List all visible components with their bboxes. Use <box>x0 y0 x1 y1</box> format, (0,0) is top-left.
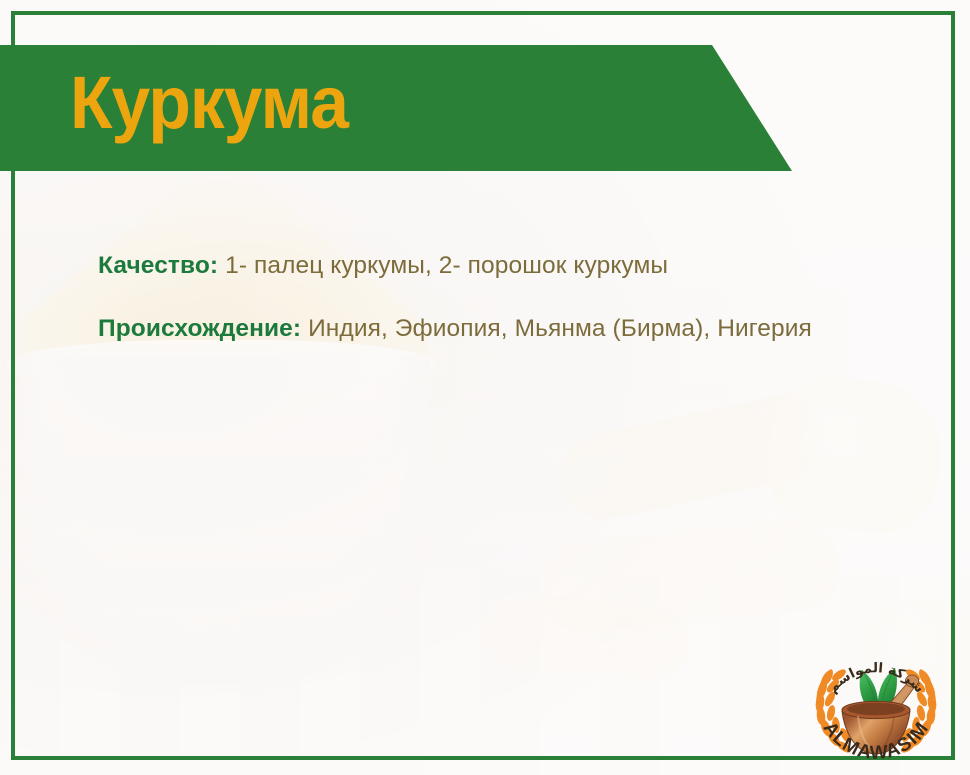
company-logo: شركة المواسم ALMAWASIM <box>800 618 952 770</box>
detail-row-quality: Качество: 1- палец куркумы, 2- порошок к… <box>98 248 898 283</box>
detail-label-quality: Качество: <box>98 252 218 279</box>
product-details: Качество: 1- палец куркумы, 2- порошок к… <box>98 248 898 346</box>
product-info-card: Куркума Качество: 1- палец куркумы, 2- п… <box>0 0 970 775</box>
detail-value-origin: Индия, Эфиопия, Мьянма (Бирма), Нигерия <box>308 315 812 342</box>
detail-label-origin: Происхождение: <box>98 315 301 342</box>
detail-value-quality: 1- палец куркумы, 2- порошок куркумы <box>225 252 668 279</box>
page-title: Куркума <box>70 66 348 140</box>
detail-row-origin: Происхождение: Индия, Эфиопия, Мьянма (Б… <box>98 311 898 346</box>
detail-line: Происхождение: Индия, Эфиопия, Мьянма (Б… <box>98 311 898 346</box>
detail-line: Качество: 1- палец куркумы, 2- порошок к… <box>98 248 898 283</box>
